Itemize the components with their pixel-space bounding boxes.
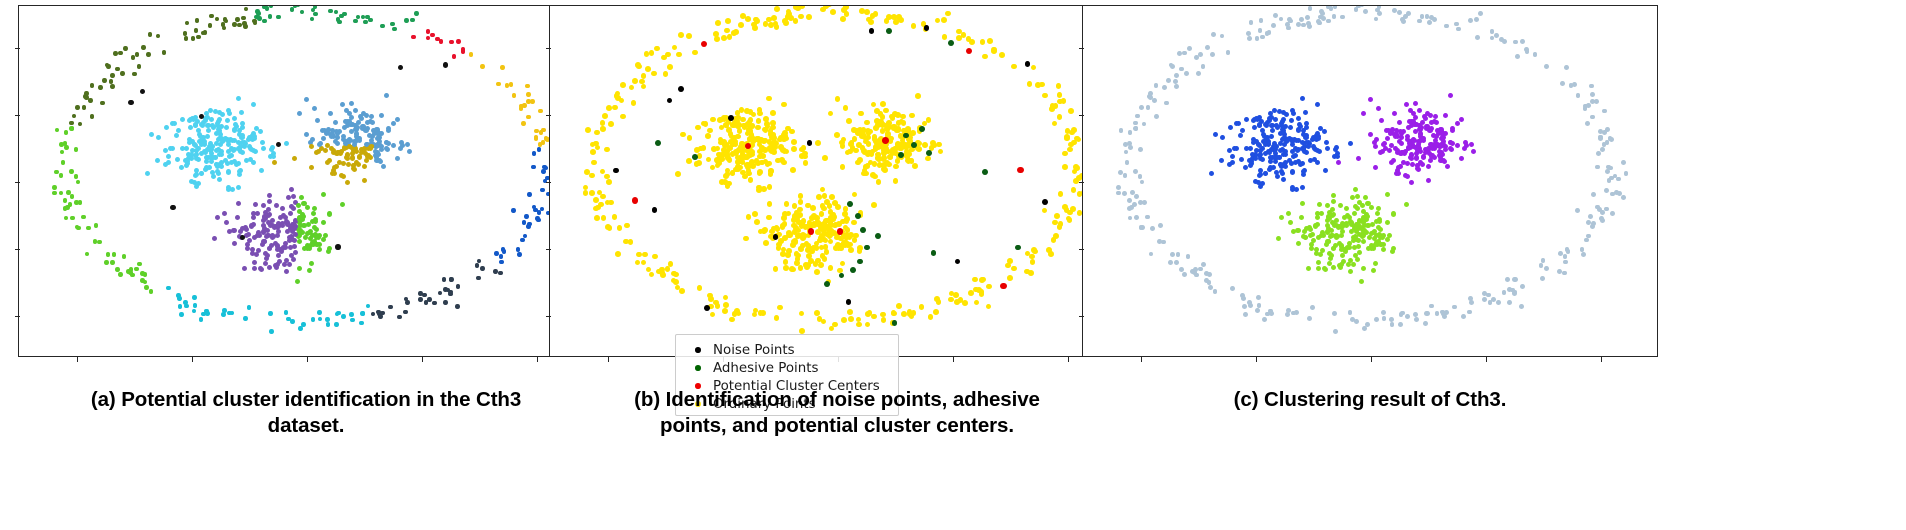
cluster-data-point [1394, 171, 1399, 176]
cluster-data-point [1266, 139, 1271, 144]
ring-data-point [110, 260, 115, 265]
ordinary-data-point [584, 169, 590, 175]
ordinary-data-point [803, 262, 809, 268]
ring-data-point [52, 191, 57, 196]
ordinary-data-point [770, 110, 776, 116]
cluster-data-point [1417, 127, 1422, 132]
ordinary-data-point [641, 260, 647, 266]
cluster-data-point [1432, 119, 1437, 124]
ring-data-point [339, 14, 344, 19]
cluster-data-point [1399, 141, 1404, 146]
ring-data-point [537, 210, 542, 215]
ordinary-data-point [905, 142, 911, 148]
cluster-data-point [1257, 153, 1262, 158]
ordinary-data-point [1028, 270, 1034, 276]
ordinary-data-point [906, 142, 912, 148]
ordinary-data-point [876, 156, 882, 162]
cluster-data-point [350, 122, 355, 127]
cluster-data-point [1281, 152, 1286, 157]
ring-data-point [222, 26, 227, 31]
cluster-data-point [277, 247, 282, 252]
cluster-data-point [351, 163, 356, 168]
ring-cluster-data-point [1332, 311, 1337, 316]
cluster-data-point [1427, 151, 1432, 156]
cluster-data-point [375, 128, 380, 133]
cluster-data-point [1432, 146, 1437, 151]
ordinary-data-point [864, 9, 870, 15]
ordinary-data-point [757, 107, 763, 113]
cluster-data-point [384, 140, 389, 145]
cluster-data-point [203, 118, 208, 123]
ring-cluster-data-point [1519, 304, 1524, 309]
cluster-data-point [353, 123, 358, 128]
ordinary-data-point [705, 133, 711, 139]
y-axis-tick [15, 249, 20, 250]
cluster-data-point [1344, 206, 1349, 211]
ring-data-point [353, 19, 358, 24]
cluster-data-point [1282, 132, 1287, 137]
potential-cluster-center-point [632, 197, 639, 204]
legend-marker-icon [683, 365, 713, 371]
ring-cluster-data-point [1240, 293, 1245, 298]
ordinary-data-point [895, 127, 901, 133]
cluster-data-point [293, 218, 298, 223]
ordinary-data-point [785, 126, 791, 132]
cluster-data-point [254, 126, 259, 131]
ordinary-data-point [826, 279, 832, 285]
ordinary-data-point [636, 64, 642, 70]
ordinary-data-point [770, 235, 776, 241]
ring-data-point [69, 169, 74, 174]
ordinary-data-point [769, 135, 775, 141]
cluster-data-point [1315, 222, 1320, 227]
ring-data-point [519, 104, 524, 109]
cluster-data-point [1449, 147, 1454, 152]
cluster-data-point [199, 171, 204, 176]
adhesive-data-point [948, 40, 954, 46]
ordinary-data-point [716, 152, 722, 158]
ring-data-point [368, 18, 373, 23]
noise-data-point [140, 89, 145, 94]
cluster-data-point [1313, 147, 1318, 152]
cluster-data-point [203, 116, 208, 121]
cluster-data-point [220, 112, 225, 117]
ordinary-data-point [642, 252, 648, 258]
ordinary-data-point [711, 146, 717, 152]
ordinary-data-point [817, 238, 823, 244]
ring-data-point [325, 317, 330, 322]
cluster-data-point [276, 221, 281, 226]
ring-data-point [410, 18, 415, 23]
ring-cluster-data-point [1403, 14, 1408, 19]
cluster-data-point [228, 137, 233, 142]
ring-cluster-data-point [1119, 128, 1124, 133]
cluster-data-point [1269, 147, 1274, 152]
ordinary-data-point [876, 119, 882, 125]
ordinary-data-point [721, 139, 727, 145]
ordinary-data-point [746, 171, 752, 177]
ordinary-data-point [740, 170, 746, 176]
cluster-data-point [234, 162, 239, 167]
cluster-data-point [1439, 150, 1444, 155]
cluster-data-point [226, 108, 231, 113]
ordinary-data-point [839, 140, 845, 146]
ordinary-data-point [735, 134, 741, 140]
ordinary-data-point [747, 136, 753, 142]
cluster-data-point [200, 137, 205, 142]
cluster-data-point [1268, 111, 1273, 116]
ordinary-data-point [774, 6, 780, 12]
cluster-data-point [375, 127, 380, 132]
cluster-data-point [210, 144, 215, 149]
ring-cluster-data-point [1507, 287, 1512, 292]
ordinary-data-point [819, 245, 825, 251]
cluster-data-point [345, 119, 350, 124]
ordinary-data-point [1042, 93, 1048, 99]
cluster-data-point [1330, 233, 1335, 238]
potential-cluster-center-point [745, 143, 752, 150]
cluster-data-point [1279, 164, 1284, 169]
ring-data-point [499, 254, 504, 259]
cluster-data-point [336, 150, 341, 155]
cluster-data-point [1247, 158, 1252, 163]
ordinary-data-point [820, 253, 826, 259]
ring-data-point [208, 23, 213, 28]
cluster-data-point [1369, 231, 1374, 236]
ordinary-data-point [663, 71, 669, 77]
ring-cluster-data-point [1140, 225, 1145, 230]
ordinary-data-point [617, 225, 623, 231]
cluster-data-point [297, 233, 302, 238]
ordinary-data-point [909, 147, 915, 153]
cluster-data-point [1355, 206, 1360, 211]
cluster-data-point [292, 156, 297, 161]
adhesive-data-point [982, 169, 988, 175]
noise-data-point [128, 100, 133, 105]
ring-data-point [411, 35, 416, 40]
ordinary-data-point [828, 265, 834, 271]
ring-data-point [449, 277, 454, 282]
cluster-data-point [1339, 262, 1344, 267]
ordinary-data-point [867, 150, 873, 156]
cluster-data-point [1386, 128, 1391, 133]
ordinary-data-point [848, 141, 854, 147]
ordinary-data-point [885, 131, 891, 137]
ring-cluster-data-point [1354, 7, 1359, 12]
ordinary-data-point [814, 215, 820, 221]
ring-data-point [230, 311, 235, 316]
ring-data-point [265, 6, 270, 11]
cluster-data-point [1290, 169, 1295, 174]
ordinary-data-point [986, 304, 992, 310]
cluster-data-point [1328, 234, 1333, 239]
ring-data-point [414, 11, 419, 16]
ring-data-point [90, 83, 95, 88]
ordinary-data-point [767, 161, 773, 167]
ring-cluster-data-point [1123, 142, 1128, 147]
cluster-data-point [297, 216, 302, 221]
ordinary-data-point [809, 222, 815, 228]
cluster-data-point [266, 207, 271, 212]
ordinary-data-point [884, 160, 890, 166]
cluster-data-point [284, 269, 289, 274]
ordinary-data-point [906, 136, 912, 142]
ring-data-point [201, 31, 206, 36]
cluster-data-point [325, 143, 330, 148]
ordinary-data-point [826, 227, 832, 233]
ordinary-data-point [724, 122, 730, 128]
ordinary-data-point [636, 252, 642, 258]
ring-cluster-data-point [1581, 252, 1586, 257]
ordinary-data-point [747, 119, 753, 125]
x-axis-tick [192, 357, 193, 362]
ring-cluster-data-point [1363, 9, 1368, 14]
ordinary-data-point [748, 177, 754, 183]
ordinary-data-point [661, 55, 667, 61]
cluster-data-point [193, 143, 198, 148]
cluster-data-point [356, 136, 361, 141]
ring-cluster-data-point [1128, 130, 1133, 135]
ordinary-data-point [880, 312, 886, 318]
ordinary-data-point [600, 120, 606, 126]
cluster-data-point [176, 128, 181, 133]
cluster-data-point [1413, 115, 1418, 120]
cluster-data-point [1315, 211, 1320, 216]
ordinary-data-point [799, 153, 805, 159]
cluster-data-point [317, 242, 322, 247]
noise-data-point [276, 142, 281, 147]
cluster-data-point [334, 151, 339, 156]
ring-cluster-data-point [1374, 17, 1379, 22]
cluster-data-point [1384, 128, 1389, 133]
ring-data-point [209, 14, 214, 19]
cluster-data-point [246, 137, 251, 142]
ring-data-point [498, 271, 503, 276]
ordinary-data-point [1057, 99, 1063, 105]
ring-data-point [109, 79, 114, 84]
cluster-data-point [275, 244, 280, 249]
ordinary-data-point [835, 204, 841, 210]
cluster-data-point [1380, 235, 1385, 240]
potential-cluster-center-point [1000, 283, 1007, 290]
ordinary-data-point [645, 66, 651, 72]
adhesive-data-point [875, 233, 881, 239]
ordinary-data-point [917, 125, 923, 131]
ordinary-data-point [925, 156, 931, 162]
ring-cluster-data-point [1398, 322, 1403, 327]
ring-data-point [476, 276, 481, 281]
cluster-data-point [1430, 153, 1435, 158]
cluster-data-point [1278, 148, 1283, 153]
ordinary-data-point [814, 241, 820, 247]
ordinary-data-point [604, 174, 610, 180]
cluster-data-point [1376, 239, 1381, 244]
ordinary-data-point [873, 125, 879, 131]
ring-cluster-data-point [1515, 54, 1520, 59]
cluster-data-point [354, 138, 359, 143]
cluster-data-point [1357, 218, 1362, 223]
legend-item-1[interactable]: Adhesive Points [683, 359, 889, 377]
ring-cluster-data-point [1414, 317, 1419, 322]
adhesive-data-point [1015, 245, 1021, 251]
cluster-data-point [391, 143, 396, 148]
ring-cluster-data-point [1586, 103, 1591, 108]
ring-data-point [131, 55, 136, 60]
ordinary-data-point [872, 136, 878, 142]
cluster-data-point [355, 125, 360, 130]
cluster-data-point [218, 142, 223, 147]
ordinary-data-point [798, 220, 804, 226]
cluster-data-point [312, 106, 317, 111]
ordinary-data-point [848, 316, 854, 322]
ring-cluster-data-point [1558, 251, 1563, 256]
noise-data-point [199, 114, 204, 119]
ring-cluster-data-point [1608, 136, 1613, 141]
ordinary-data-point [822, 226, 828, 232]
cluster-data-point [298, 223, 303, 228]
ordinary-data-point [936, 142, 942, 148]
ordinary-data-point [737, 128, 743, 134]
cluster-data-point [1354, 237, 1359, 242]
cluster-data-point [1358, 225, 1363, 230]
ring-data-point [540, 207, 545, 212]
ring-data-point [404, 18, 409, 23]
legend-item-0[interactable]: Noise Points [683, 341, 889, 359]
ring-cluster-data-point [1286, 308, 1291, 313]
ring-data-point [403, 310, 408, 315]
cluster-data-point [1433, 144, 1438, 149]
cluster-data-point [1329, 253, 1334, 258]
ordinary-data-point [905, 158, 911, 164]
cluster-data-point [1256, 142, 1261, 147]
cluster-data-point [247, 144, 252, 149]
cluster-data-point [248, 146, 253, 151]
ordinary-data-point [800, 232, 806, 238]
ring-data-point [115, 267, 120, 272]
ordinary-data-point [974, 300, 980, 306]
ordinary-data-point [954, 299, 960, 305]
ordinary-data-point [1076, 137, 1082, 143]
ordinary-data-point [729, 134, 735, 140]
noise-data-point [398, 65, 403, 70]
potential-cluster-center-point [701, 41, 708, 48]
ordinary-data-point [733, 142, 739, 148]
cluster-data-point [302, 201, 307, 206]
ordinary-data-point [906, 130, 912, 136]
ordinary-data-point [843, 225, 849, 231]
ordinary-data-point [807, 228, 813, 234]
ring-data-point [242, 21, 247, 26]
ring-data-point [243, 24, 248, 29]
cluster-data-point [333, 120, 338, 125]
cluster-data-point [293, 232, 298, 237]
ordinary-data-point [915, 93, 921, 99]
cluster-data-point [203, 150, 208, 155]
cluster-data-point [357, 155, 362, 160]
ordinary-data-point [800, 235, 806, 241]
cluster-data-point [1290, 185, 1295, 190]
cluster-data-point [275, 225, 280, 230]
cluster-data-point [347, 144, 352, 149]
ring-data-point [334, 322, 339, 327]
cluster-data-point [345, 180, 350, 185]
ring-data-point [201, 312, 206, 317]
ordinary-data-point [942, 34, 948, 40]
ordinary-data-point [828, 220, 834, 226]
cluster-data-point [1338, 265, 1343, 270]
ordinary-data-point [828, 216, 834, 222]
x-axis-tick [1068, 357, 1069, 362]
noise-data-point [170, 205, 175, 210]
ordinary-data-point [991, 48, 997, 54]
cluster-data-point [337, 150, 342, 155]
cluster-data-point [1232, 146, 1237, 151]
cluster-data-point [1328, 256, 1333, 261]
cluster-data-point [266, 213, 271, 218]
ordinary-data-point [728, 131, 734, 137]
ring-cluster-data-point [1541, 258, 1546, 263]
cluster-data-point [290, 229, 295, 234]
ordinary-data-point [747, 129, 753, 135]
cluster-data-point [345, 153, 350, 158]
ordinary-data-point [884, 123, 890, 129]
ring-cluster-data-point [1247, 36, 1252, 41]
ordinary-data-point [893, 146, 899, 152]
cluster-data-point [1450, 128, 1455, 133]
cluster-data-point [275, 247, 280, 252]
cluster-data-point [335, 131, 340, 136]
cluster-data-point [1347, 215, 1352, 220]
ordinary-data-point [902, 131, 908, 137]
ring-data-point [538, 142, 543, 147]
ordinary-data-point [1070, 206, 1076, 212]
ring-data-point [253, 21, 258, 26]
cluster-data-point [1418, 134, 1423, 139]
ordinary-data-point [836, 231, 842, 237]
ordinary-data-point [908, 142, 914, 148]
cluster-data-point [296, 203, 301, 208]
cluster-data-point [197, 139, 202, 144]
cluster-data-point [1388, 131, 1393, 136]
cluster-data-point [287, 235, 292, 240]
ring-data-point [191, 36, 196, 41]
cluster-data-point [1332, 223, 1337, 228]
cluster-data-point [1429, 145, 1434, 150]
ordinary-data-point [797, 212, 803, 218]
ring-cluster-data-point [1360, 6, 1365, 7]
cluster-data-point [1258, 148, 1263, 153]
cluster-data-point [1275, 174, 1280, 179]
ordinary-data-point [794, 260, 800, 266]
cluster-data-point [1356, 226, 1361, 231]
cluster-data-point [362, 164, 367, 169]
ring-data-point [439, 39, 444, 44]
cluster-data-point [1398, 129, 1403, 134]
ring-cluster-data-point [1129, 205, 1134, 210]
cluster-data-point [351, 166, 356, 171]
cluster-data-point [1427, 127, 1432, 132]
ordinary-data-point [972, 277, 978, 283]
cluster-data-point [273, 224, 278, 229]
ordinary-data-point [890, 150, 896, 156]
ring-cluster-data-point [1599, 216, 1604, 221]
cluster-data-point [1272, 144, 1277, 149]
cluster-data-point [1250, 152, 1255, 157]
cluster-data-point [291, 222, 296, 227]
ordinary-data-point [726, 127, 732, 133]
adhesive-data-point [898, 152, 904, 158]
cluster-data-point [1469, 142, 1474, 147]
